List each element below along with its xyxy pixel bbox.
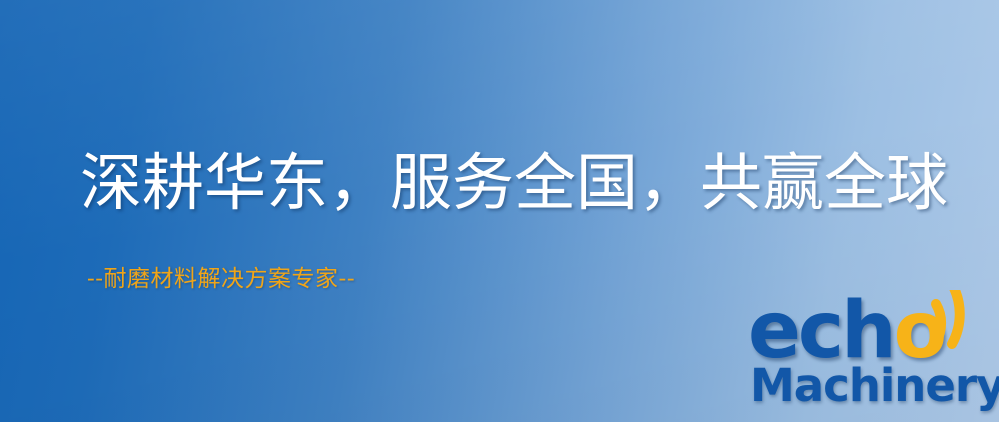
company-logo[interactable]: echo Machinery®: [744, 296, 996, 418]
wifi-arcs-icon: [926, 290, 998, 352]
logo-tagline: Machinery®: [750, 362, 999, 408]
hero-banner: 深耕华东，服务全国，共赢全球 --耐磨材料解决方案专家-- echo Machi…: [0, 0, 999, 422]
page-title: 深耕华东，服务全国，共赢全球: [80, 152, 948, 214]
page-subtitle: --耐磨材料解决方案专家--: [87, 268, 355, 291]
logo-tagline-text: Machinery: [750, 359, 999, 412]
